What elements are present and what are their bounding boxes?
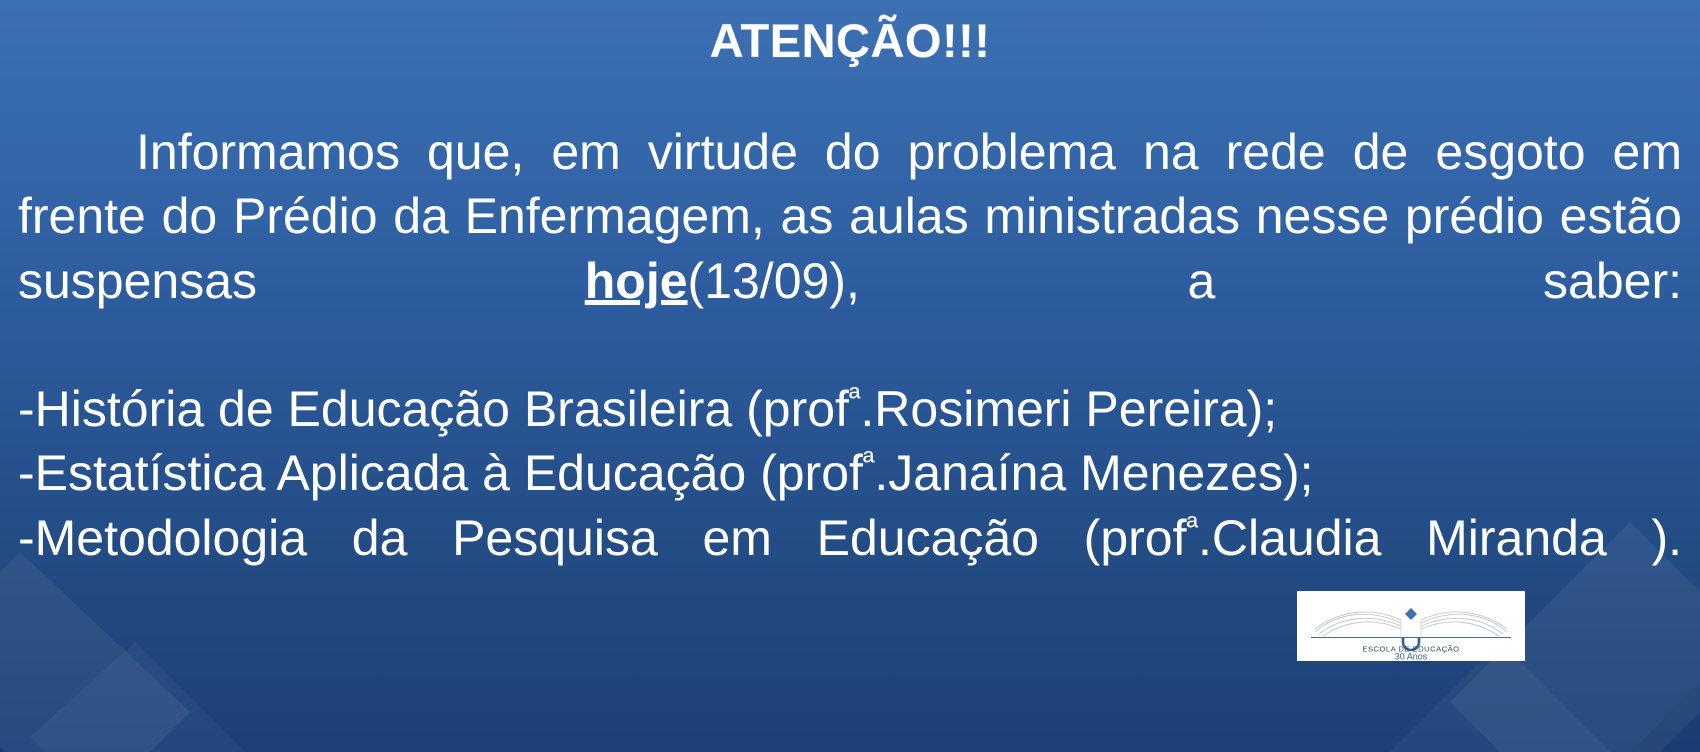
slide-body: Informamos que, em virtude do problema n… [18,120,1682,634]
notice-paragraph: Informamos que, em virtude do problema n… [18,120,1682,377]
ordinal-feminine-indicator: ª [863,445,874,480]
list-item-teacher: .Claudia Miranda ). [1198,510,1682,566]
list-item: -Estatística Aplicada à Educação (profª.… [18,441,1682,505]
escola-de-educacao-logo: ESCOLA DE EDUCAÇÃO 30 Anos [1297,591,1525,661]
list-item-subject: História de Educação Brasileira (prof [35,381,849,437]
list-item-teacher: .Janaína Menezes); [874,445,1313,501]
list-item: -História de Educação Brasileira (profª.… [18,377,1682,441]
list-item-dash: - [18,445,35,501]
list-item-subject: Estatística Aplicada à Educação (prof [35,445,863,501]
ordinal-feminine-indicator: ª [849,380,860,415]
list-item-subject: Metodologia da Pesquisa em Educação (pro… [35,510,1187,566]
list-item-teacher: .Rosimeri Pereira); [860,381,1277,437]
emphasis-today: hoje [585,253,688,309]
slide-title: ATENÇÃO!!! [0,16,1700,65]
list-item-dash: - [18,381,35,437]
slide-canvas: ATENÇÃO!!! Informamos que, em virtude do… [0,0,1700,752]
notice-text-after-emphasis: (13/09), a saber: [688,253,1682,309]
ordinal-feminine-indicator: ª [1187,509,1198,544]
logo-line-2: 30 Anos [1395,652,1428,662]
list-item-dash: - [18,510,35,566]
